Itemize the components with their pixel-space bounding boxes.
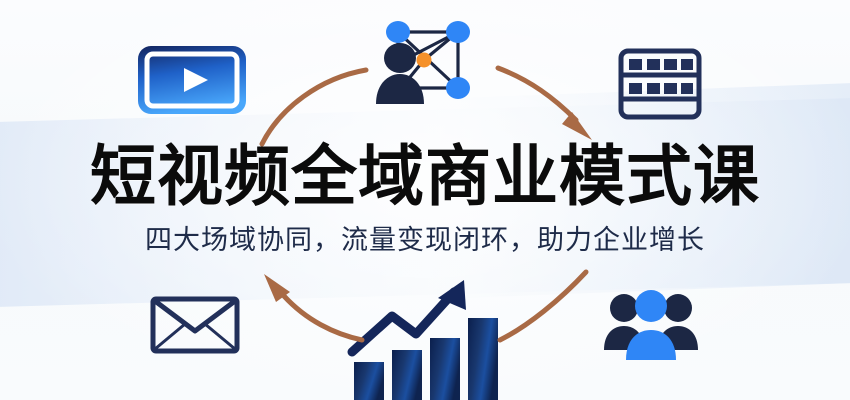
bar-2 (392, 350, 422, 400)
promo-banner: 短视频全域商业模式课 四大场域协同，流量变现闭环，助力企业增长 (0, 0, 850, 400)
background-band-primary (0, 97, 850, 308)
headline-block: 短视频全域商业模式课 四大场域协同，流量变现闭环，助力企业增长 (0, 140, 850, 256)
arrow-bottom-left (250, 268, 370, 352)
mail-icon (150, 296, 240, 354)
people-group-icon (602, 288, 700, 360)
arrow-top-left (244, 52, 374, 148)
bar-1 (354, 362, 384, 400)
video-play-icon (136, 44, 248, 116)
page-title: 短视频全域商业模式课 (0, 140, 850, 212)
arrow-top-right (496, 56, 602, 142)
store-shelf-icon (618, 48, 702, 120)
network-user-icon (370, 12, 478, 106)
bar-3 (430, 338, 460, 400)
arrow-bottom-right (492, 264, 596, 346)
page-subtitle: 四大场域协同，流量变现闭环，助力企业增长 (0, 224, 850, 256)
